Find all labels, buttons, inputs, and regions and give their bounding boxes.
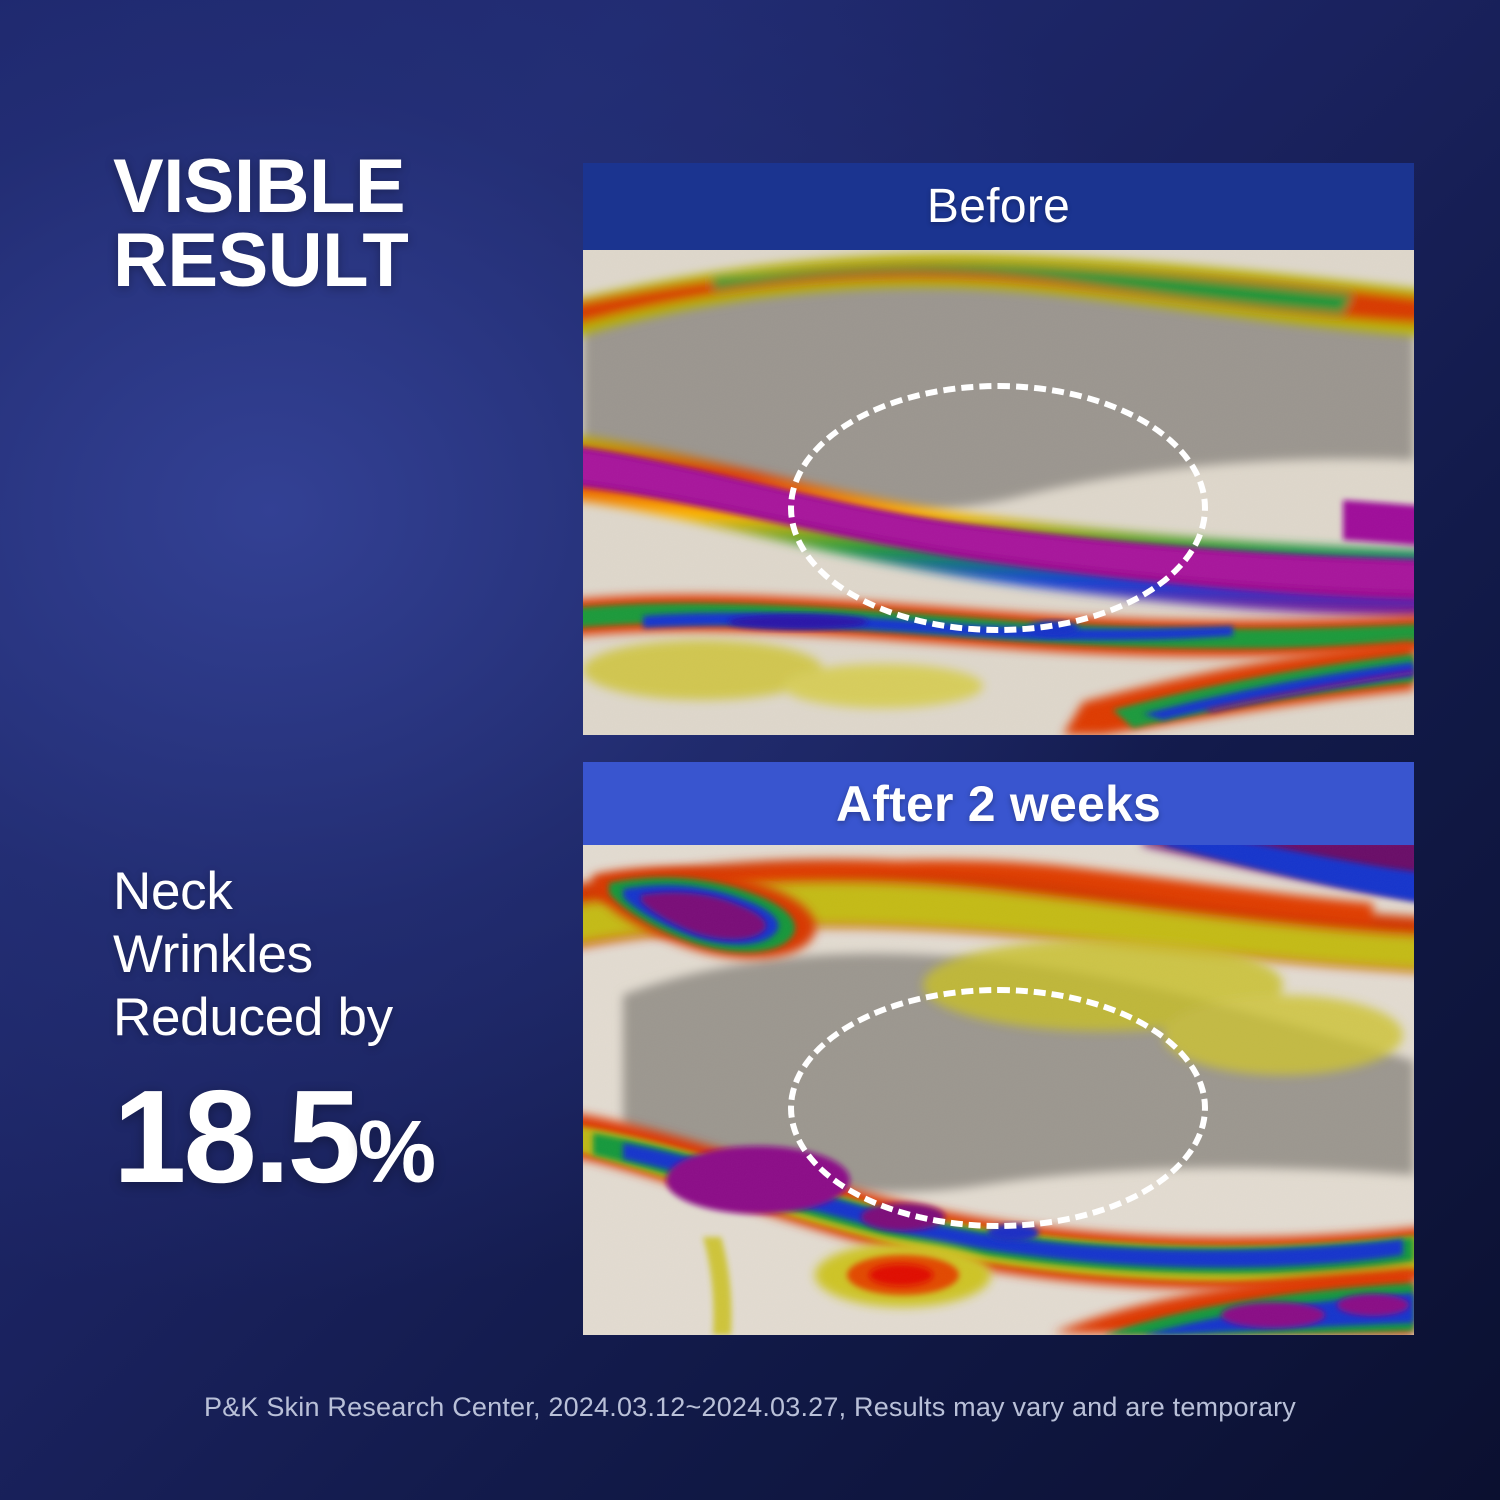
statistic-unit: % bbox=[358, 1102, 434, 1201]
panel-banner-after: After 2 weeks bbox=[583, 762, 1414, 845]
headline-line-1: VISIBLE bbox=[113, 150, 553, 224]
scan-grain-overlay-after bbox=[583, 845, 1414, 1335]
skin-scan-render-before bbox=[583, 250, 1414, 735]
headline-line-2: RESULT bbox=[113, 224, 553, 298]
infographic-canvas: VISIBLE RESULT Neck Wrinkles Reduced by … bbox=[0, 0, 1500, 1500]
comparison-panel-after: After 2 weeks bbox=[583, 762, 1414, 1335]
statistic-label-line-2: Wrinkles bbox=[113, 923, 553, 986]
page-title: VISIBLE RESULT bbox=[113, 150, 553, 299]
left-content-column: VISIBLE RESULT Neck Wrinkles Reduced by … bbox=[113, 150, 553, 1330]
skin-scan-image-after bbox=[583, 845, 1414, 1335]
panel-banner-label-after: After 2 weeks bbox=[836, 775, 1161, 833]
statistic-label: Neck Wrinkles Reduced by bbox=[113, 860, 553, 1049]
statistic-value: 18.5% bbox=[113, 1071, 553, 1203]
statistic-label-line-1: Neck bbox=[113, 860, 553, 923]
panel-banner-before: Before bbox=[583, 163, 1414, 250]
comparison-panel-before: Before bbox=[583, 163, 1414, 735]
statistic-block: Neck Wrinkles Reduced by 18.5% bbox=[113, 860, 553, 1203]
scan-grain-overlay bbox=[583, 250, 1414, 735]
panel-banner-label-before: Before bbox=[927, 179, 1070, 234]
statistic-number: 18.5 bbox=[113, 1063, 358, 1210]
skin-scan-render-after bbox=[583, 845, 1414, 1335]
skin-scan-image-before bbox=[583, 250, 1414, 735]
disclaimer-text: P&K Skin Research Center, 2024.03.12~202… bbox=[0, 1392, 1500, 1423]
statistic-label-line-3: Reduced by bbox=[113, 986, 553, 1049]
